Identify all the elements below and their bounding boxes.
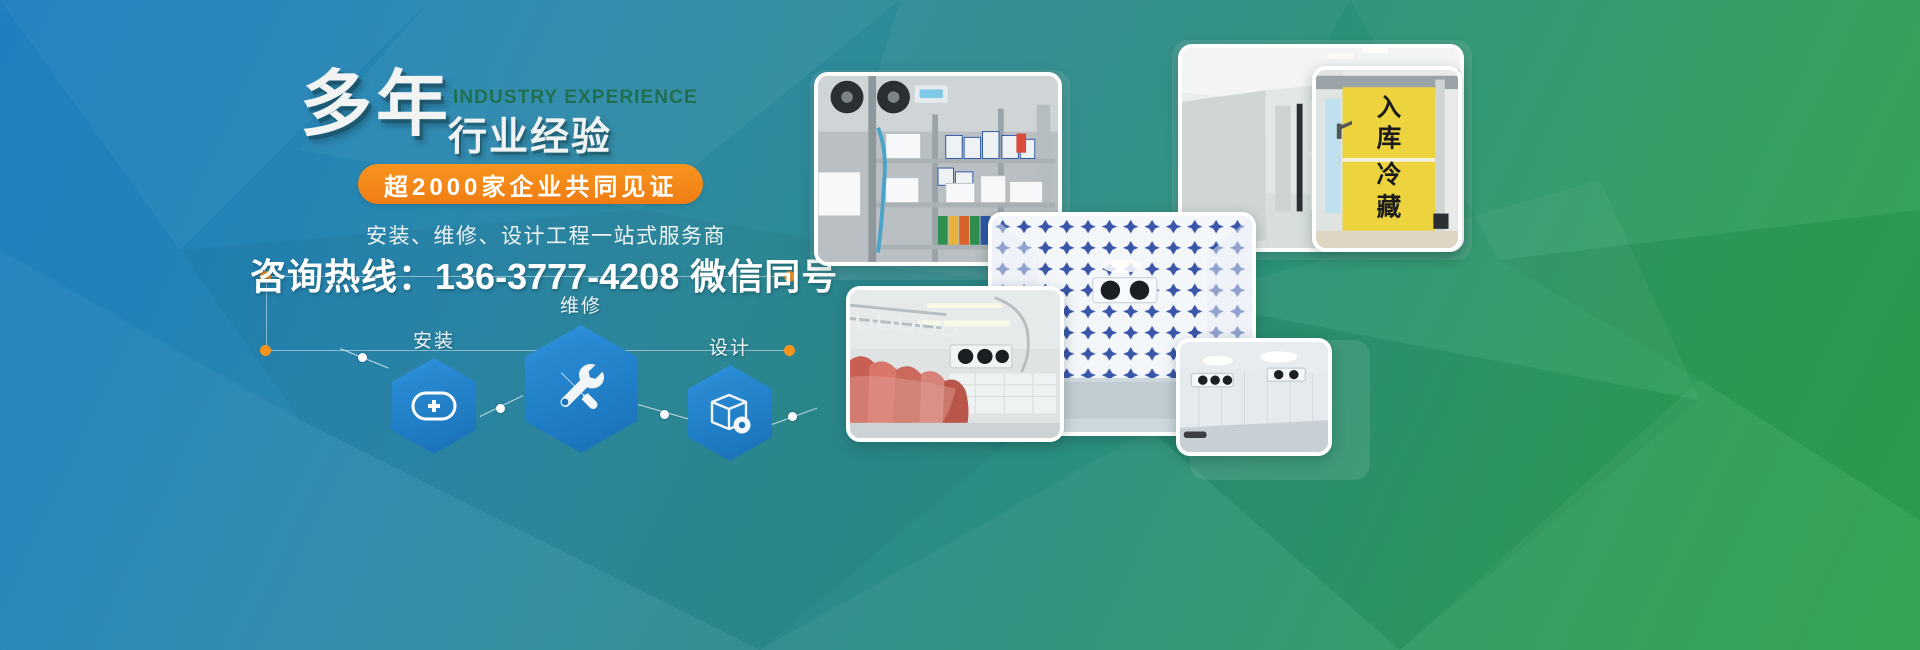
flow-node-end: [788, 412, 797, 421]
plus-badge-icon: [411, 391, 457, 421]
flow-step-repair[interactable]: 维修: [525, 325, 637, 453]
svg-text:冷: 冷: [1377, 160, 1402, 189]
svg-text:藏: 藏: [1377, 192, 1402, 221]
flow-step-design-label: 设计: [688, 333, 772, 360]
photo-white-cold-room[interactable]: [1176, 338, 1332, 456]
flow-node-start: [358, 353, 367, 362]
photo-meat-hanging-room[interactable]: [846, 286, 1064, 442]
headline-secondary: 行业经验: [448, 106, 612, 162]
headline-primary: 多年: [300, 62, 452, 148]
3d-box-gear-icon: [705, 388, 755, 438]
flow-step-install[interactable]: 安装: [392, 358, 476, 454]
flow-node-1: [496, 404, 505, 413]
service-flow: 安装 维修: [330, 300, 750, 480]
promo-banner: 多年 INDUSTRY EXPERIENCE 行业经验 超2000家企业共同见证…: [0, 0, 1920, 650]
headline-row: 多年 INDUSTRY EXPERIENCE 行业经验: [248, 62, 888, 158]
bracket-dot-bottom-right: [784, 345, 795, 356]
svg-text:库: 库: [1377, 123, 1402, 152]
photo-cold-storage-door-sign[interactable]: 入 库 冷 藏: [1312, 66, 1462, 252]
wrench-screwdriver-icon: [550, 358, 612, 420]
witness-badge: 超2000家企业共同见证: [358, 164, 703, 204]
flow-node-2: [660, 410, 669, 419]
svg-text:入: 入: [1377, 93, 1402, 122]
service-tagline: 安装、维修、设计工程一站式服务商: [366, 220, 726, 250]
pill-row: 超2000家企业共同见证 安装、维修、设计工程一站式服务商: [248, 164, 888, 208]
photo-collage: 入 库 冷 藏: [800, 40, 1560, 620]
hotline-label: 咨询热线：: [250, 256, 435, 297]
headline-block: 多年 INDUSTRY EXPERIENCE 行业经验 超2000家企业共同见证…: [248, 62, 888, 208]
flow-step-install-label: 安装: [392, 326, 476, 353]
flow-step-design-hex[interactable]: 设计: [688, 365, 772, 461]
bracket-dot-bottom-left: [260, 345, 271, 356]
flow-step-repair-label: 维修: [525, 291, 637, 318]
